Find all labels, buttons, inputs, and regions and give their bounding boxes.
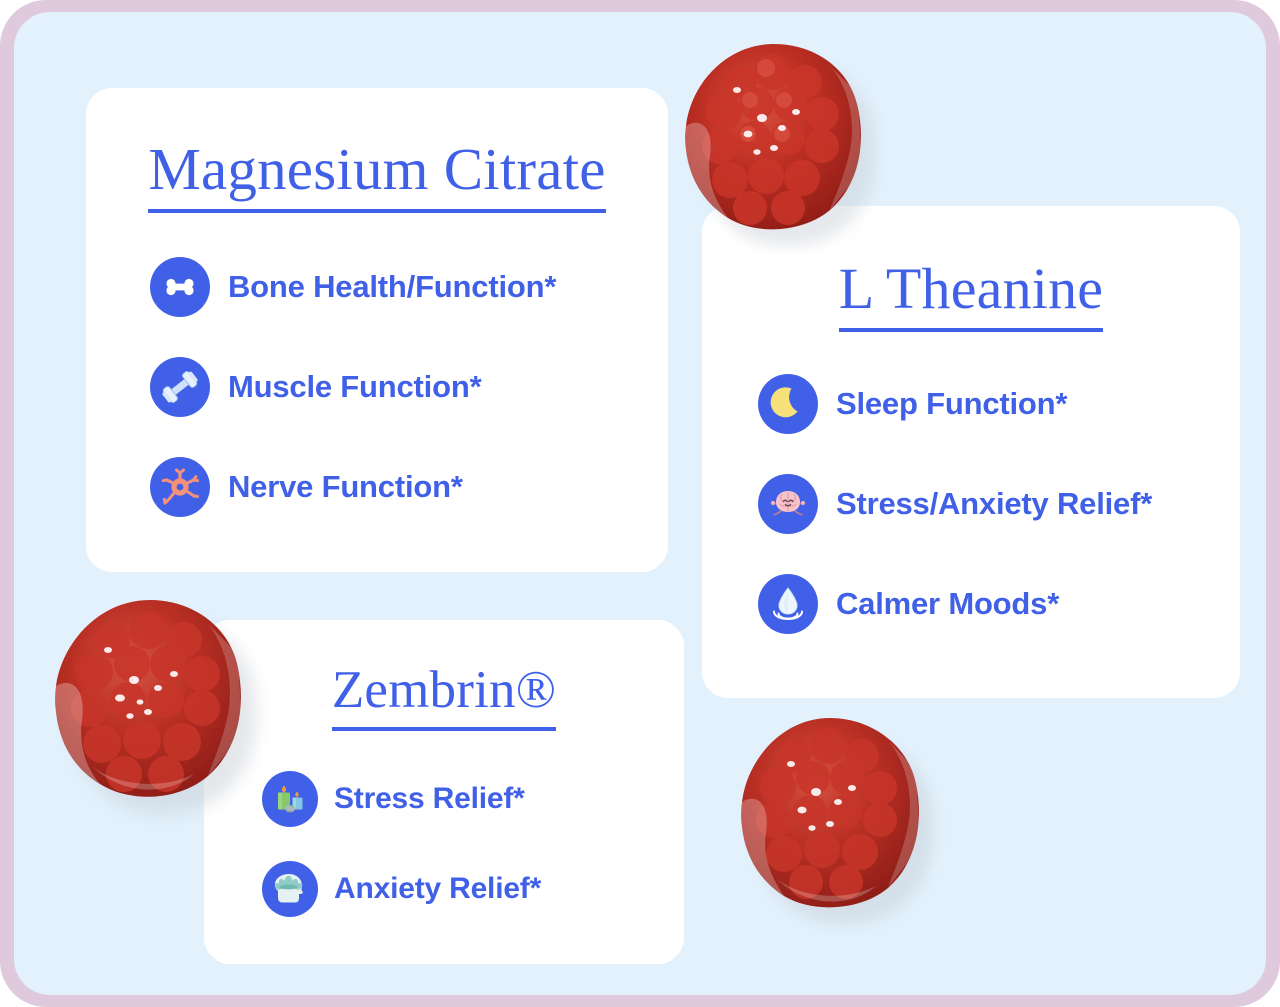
benefit-item: Calmer Moods*	[758, 574, 1240, 634]
candles-icon	[262, 771, 318, 827]
benefit-label: Calmer Moods*	[836, 586, 1059, 622]
card-title-magnesium-citrate: Magnesium Citrate	[86, 140, 668, 213]
benefit-item: Stress/Anxiety Relief*	[758, 474, 1240, 534]
benefit-item: Nerve Function*	[150, 457, 668, 517]
zen-head-icon	[262, 861, 318, 917]
neuron-icon	[150, 457, 210, 517]
benefit-item: Muscle Function*	[150, 357, 668, 417]
benefit-list-l-theanine: Sleep Function*	[702, 374, 1240, 634]
ingredient-card-zembrin: Zembrin®	[204, 620, 684, 964]
benefit-label: Anxiety Relief*	[334, 872, 541, 906]
meditating-brain-icon	[758, 474, 818, 534]
card-title-text: Zembrin®	[332, 664, 556, 731]
page-background: Magnesium Citrate	[14, 12, 1266, 995]
benefit-item: Sleep Function*	[758, 374, 1240, 434]
benefit-label: Bone Health/Function*	[228, 269, 556, 305]
card-title-text: Magnesium Citrate	[148, 140, 605, 213]
benefit-list-zembrin: Stress Relief*	[204, 771, 684, 917]
benefit-label: Muscle Function*	[228, 369, 481, 405]
ingredient-card-magnesium-citrate: Magnesium Citrate	[86, 88, 668, 572]
card-title-zembrin: Zembrin®	[204, 664, 684, 731]
card-title-l-theanine: L Theanine	[702, 260, 1240, 332]
crescent-moon-icon	[758, 374, 818, 434]
ingredient-card-l-theanine: L Theanine Sleep Function*	[702, 206, 1240, 698]
raspberry-gummy-bottom	[716, 706, 948, 938]
benefit-label: Stress Relief*	[334, 782, 525, 816]
benefit-item: Bone Health/Function*	[150, 257, 668, 317]
benefit-item: Stress Relief*	[262, 771, 684, 827]
benefit-list-magnesium-citrate: Bone Health/Function*	[86, 257, 668, 517]
card-title-text: L Theanine	[839, 260, 1104, 332]
dumbbell-icon	[150, 357, 210, 417]
benefit-item: Anxiety Relief*	[262, 861, 684, 917]
water-droplet-icon	[758, 574, 818, 634]
benefit-label: Nerve Function*	[228, 469, 463, 505]
page-frame: Magnesium Citrate	[0, 0, 1280, 1007]
benefit-label: Sleep Function*	[836, 386, 1067, 422]
benefit-label: Stress/Anxiety Relief*	[836, 486, 1152, 522]
bone-icon	[150, 257, 210, 317]
